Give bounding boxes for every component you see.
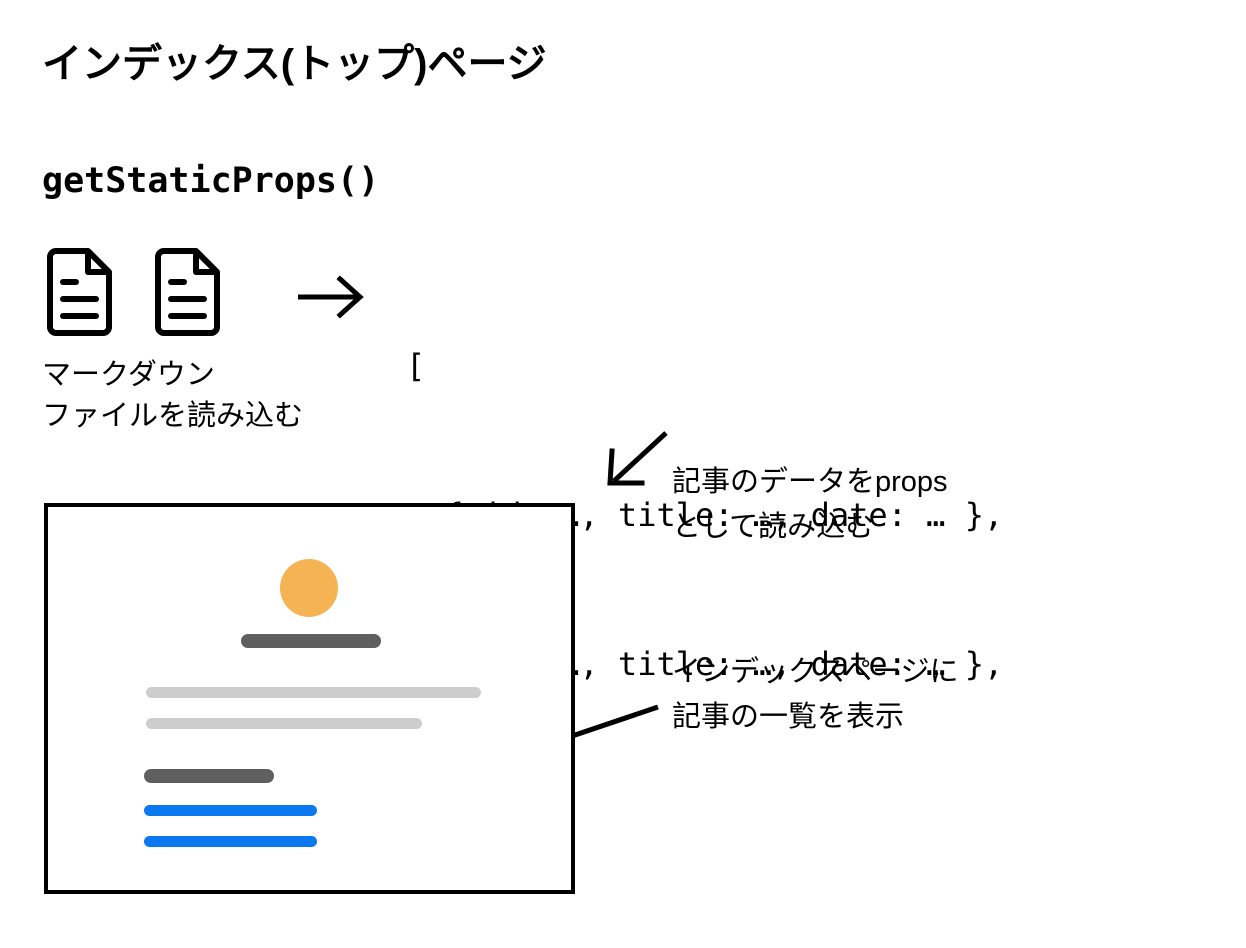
document-icon bbox=[152, 248, 222, 336]
markdown-caption-line-2: ファイルを読み込む bbox=[42, 396, 303, 437]
post-link-bar[interactable] bbox=[144, 805, 317, 816]
post-link-bar[interactable] bbox=[144, 836, 317, 847]
index-page-preview bbox=[44, 503, 575, 894]
props-annotation: 記事のデータをprops として読み込む bbox=[672, 460, 948, 550]
index-annotation-line-2: 記事の一覧を表示 bbox=[672, 695, 959, 740]
arrow-right-icon bbox=[292, 262, 372, 332]
arrow-down-left-icon bbox=[600, 425, 680, 495]
markdown-caption-line-1: マークダウン bbox=[42, 355, 303, 396]
body-placeholder-bar bbox=[146, 687, 481, 698]
function-name-label: getStaticProps() bbox=[42, 160, 379, 202]
code-line-1: [ bbox=[406, 342, 1003, 392]
index-annotation: インデックスページに 記事の一覧を表示 bbox=[672, 650, 959, 740]
props-annotation-line-1: 記事のデータをprops bbox=[672, 460, 948, 505]
index-annotation-line-1: インデックスページに bbox=[672, 650, 959, 695]
title-placeholder-bar bbox=[241, 634, 381, 648]
markdown-caption: マークダウン ファイルを読み込む bbox=[42, 355, 303, 437]
circle-avatar bbox=[280, 559, 338, 617]
props-annotation-line-2: として読み込む bbox=[672, 505, 948, 550]
page-title: インデックス(トップ)ページ bbox=[42, 40, 547, 88]
section-heading-bar bbox=[144, 769, 274, 783]
body-placeholder-bar bbox=[146, 718, 422, 729]
document-icon bbox=[44, 248, 114, 336]
